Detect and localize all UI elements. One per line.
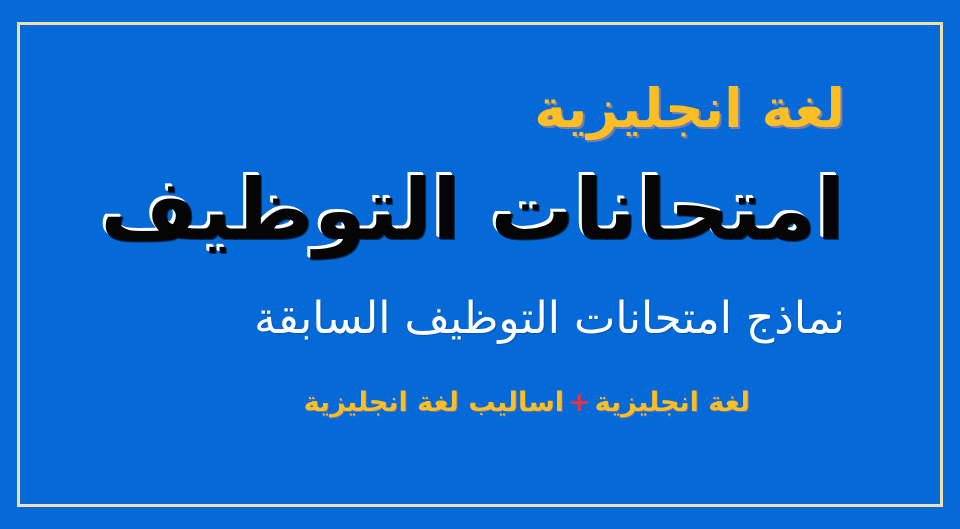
subject-line: لغة انجليزية bbox=[534, 82, 845, 136]
poster-title: امتحانات التوظيف bbox=[100, 168, 845, 252]
plus-separator-icon: + bbox=[564, 387, 595, 418]
poster-canvas: لغة انجليزية امتحانات التوظيف نماذج امتح… bbox=[0, 0, 960, 529]
footnote-line: لغة انجليزية+اساليب لغة انجليزية bbox=[304, 389, 750, 416]
poster-content: لغة انجليزية امتحانات التوظيف نماذج امتح… bbox=[0, 0, 960, 529]
poster-subtitle: نماذج امتحانات التوظيف السابقة bbox=[254, 297, 845, 341]
footnote-right-text: لغة انجليزية bbox=[595, 387, 750, 418]
footnote-left-text: اساليب لغة انجليزية bbox=[304, 387, 564, 418]
